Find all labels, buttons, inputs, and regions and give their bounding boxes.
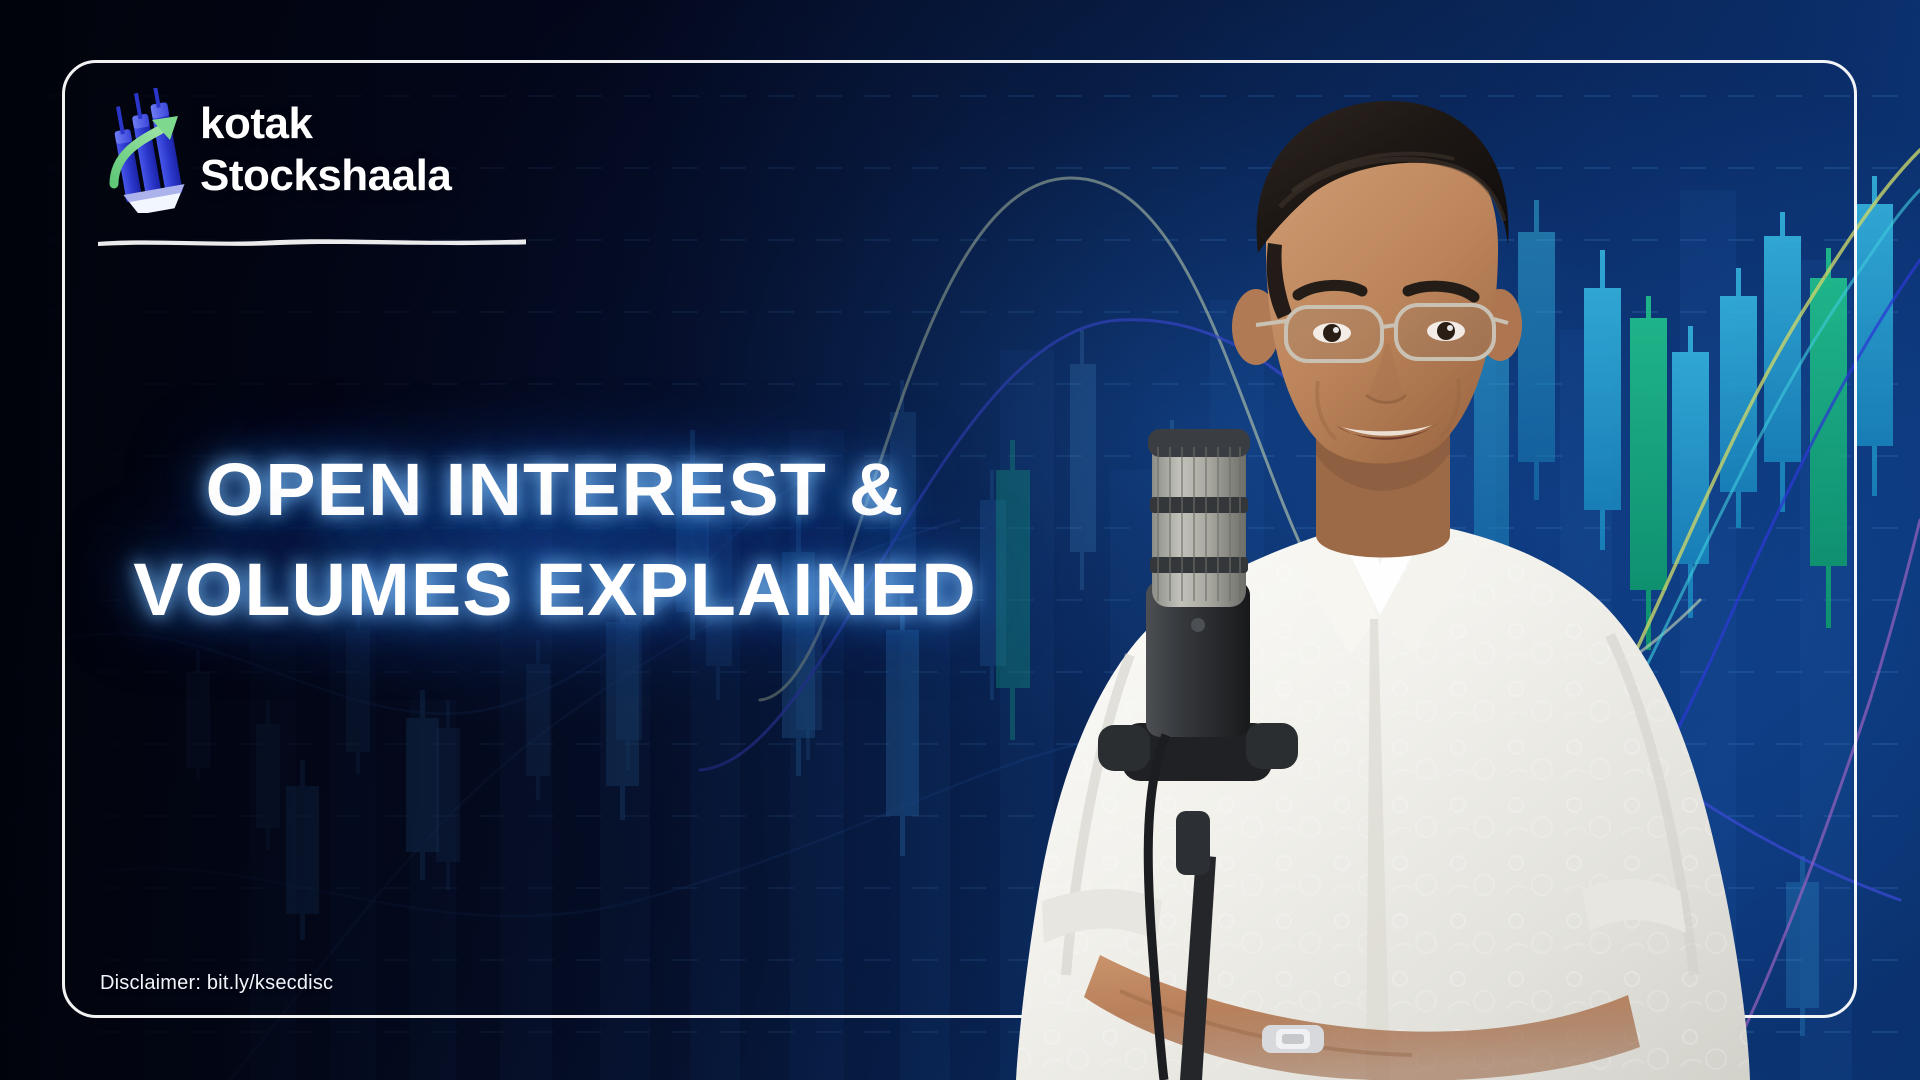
thumbnail-canvas: kotak Stockshaala OPEN INTEREST & VOLUME… [0, 0, 1920, 1080]
brand-name-line1: kotak [200, 99, 312, 148]
title-line-1: OPEN INTEREST & [0, 440, 1121, 540]
presenter-head [1232, 101, 1522, 467]
brand-name-line2: Stockshaala [200, 150, 451, 202]
candlestick-growth-arrow-icon [108, 88, 188, 213]
wristwatch [1262, 1025, 1324, 1053]
page-title: OPEN INTEREST & VOLUMES EXPLAINED [0, 440, 1121, 640]
title-line-2: VOLUMES EXPLAINED [0, 540, 1121, 640]
brand-name: kotak Stockshaala [200, 98, 451, 202]
presenter-photo [980, 95, 1780, 1080]
disclaimer-text: Disclaimer: bit.ly/ksecdisc [100, 972, 333, 995]
brand-logo[interactable]: kotak Stockshaala [108, 88, 508, 248]
brush-stroke-underline-icon [96, 236, 528, 246]
